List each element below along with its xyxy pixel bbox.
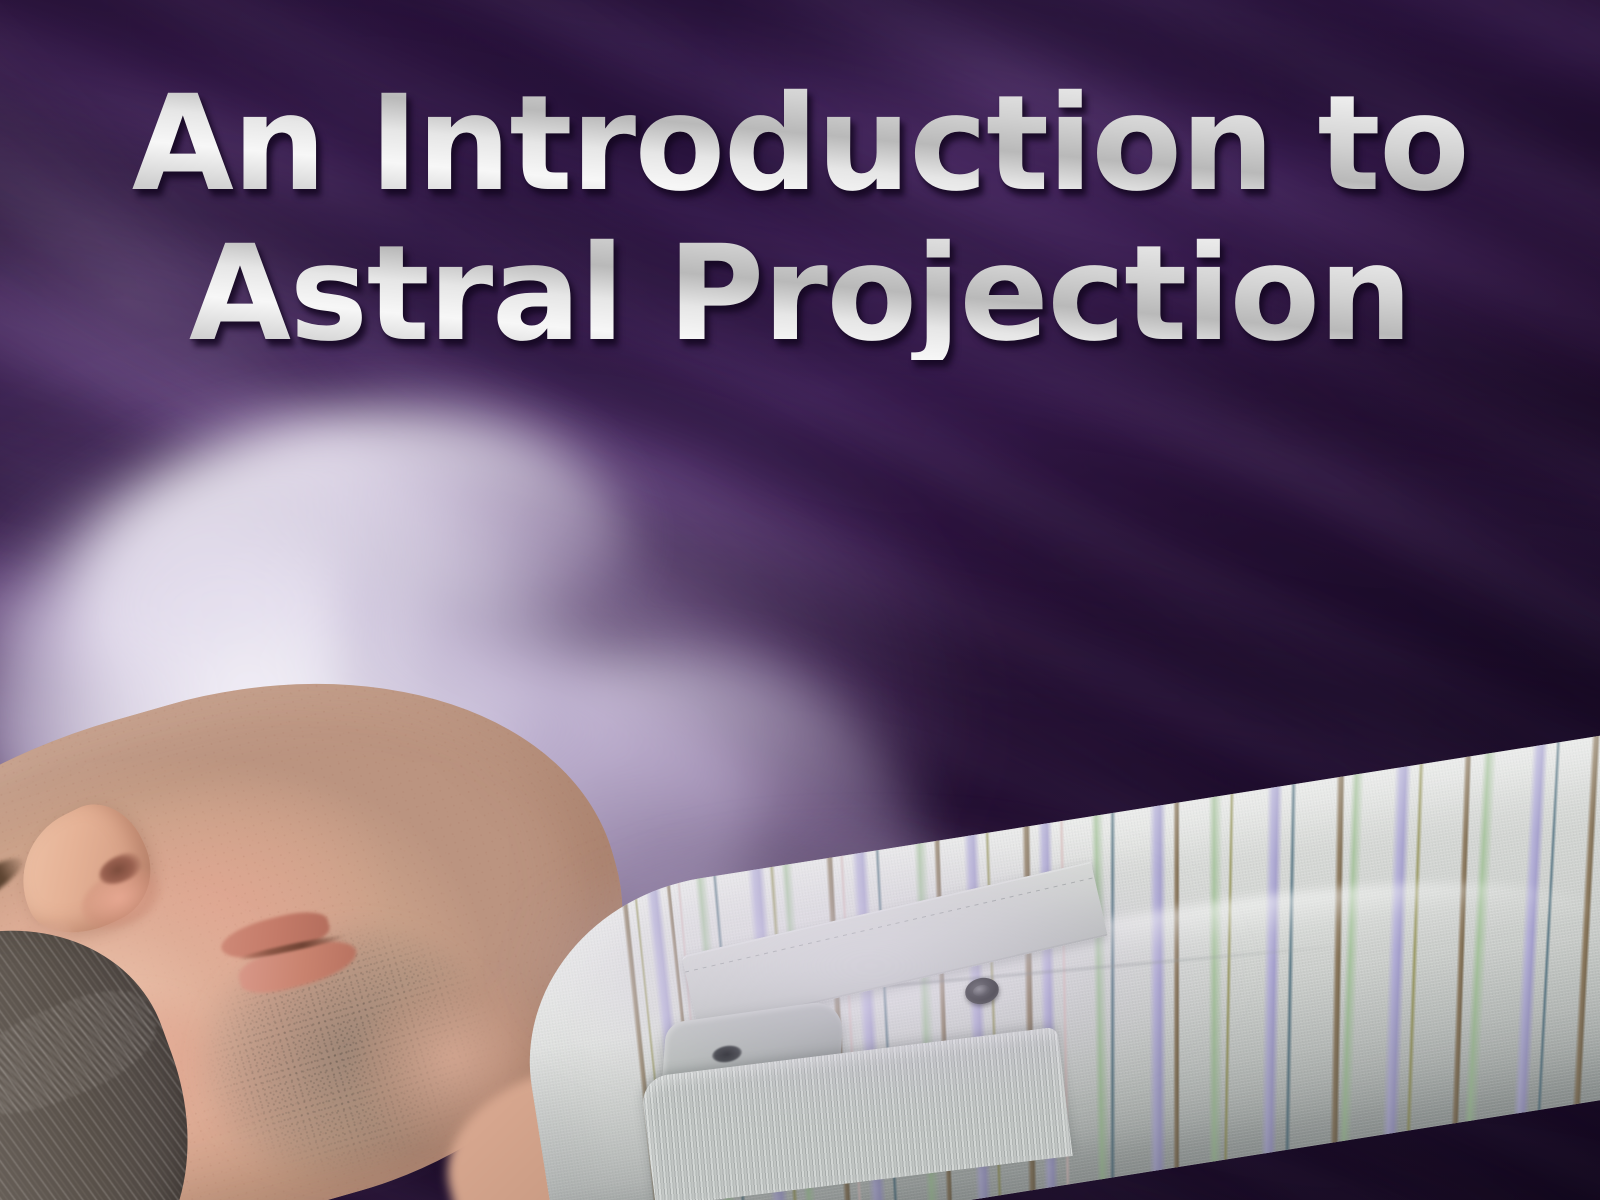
cover-image: An Introduction to Astral Projection [0, 0, 1600, 1200]
